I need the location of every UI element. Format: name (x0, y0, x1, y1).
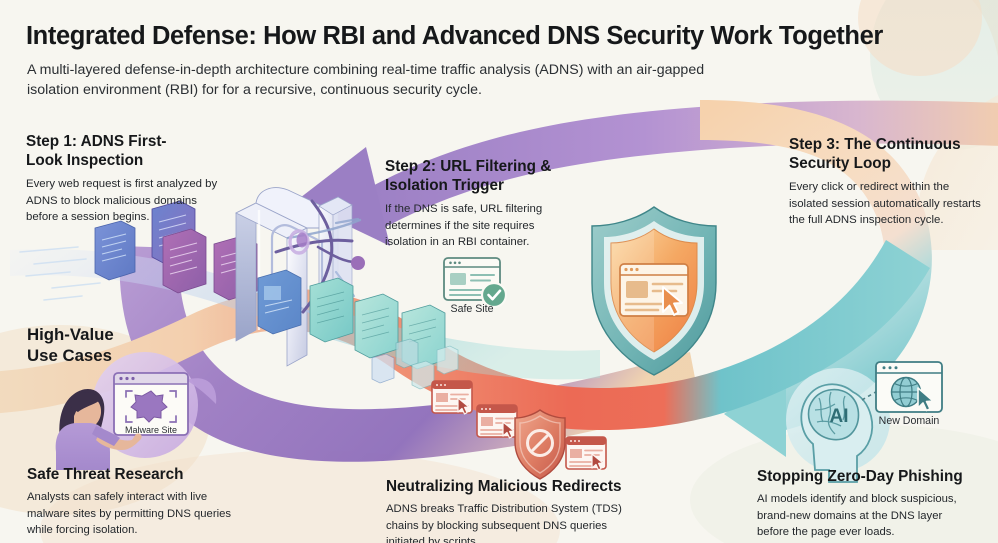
step-1-body-line-3: before a session begins. (26, 209, 256, 225)
step-1-heading-line-2: Look Inspection (26, 152, 256, 171)
use-case-3-body-line-1: AI models identify and block suspicious, (757, 491, 998, 507)
step-2-body-line-3: isolation in an RBI container. (385, 234, 625, 250)
step-3-body-line-1: Every click or redirect within the (789, 179, 998, 195)
use-case-1-body-line-1: Analysts can safely interact with live (27, 489, 297, 505)
use-case-2-body: ADNS breaks Traffic Distribution System … (386, 501, 686, 543)
use-case-1-body-line-2: malware sites by permitting DNS queries (27, 506, 297, 522)
step-1-heading-line-1: Step 1: ADNS First- (26, 133, 256, 152)
step-2-block: Step 2: URL Filtering & Isolation Trigge… (385, 158, 625, 250)
malware-site-label: Malware Site (125, 425, 177, 435)
step-3-heading-line-1: Step 3: The Continuous (789, 136, 998, 155)
step-2-body: If the DNS is safe, URL filtering determ… (385, 201, 625, 250)
subtitle-line-2: isolation environment (RBI) for for a re… (27, 80, 927, 100)
use-case-2-heading: Neutralizing Malicious Redirects (386, 478, 686, 496)
new-domain-label: New Domain (879, 415, 940, 427)
step-3-block: Step 3: The Continuous Security Loop Eve… (789, 136, 998, 228)
use-case-3-body-line-3: before the page ever loads. (757, 524, 998, 540)
page-subtitle: A multi-layered defense-in-depth archite… (27, 60, 927, 100)
use-case-2-body-line-1: ADNS breaks Traffic Distribution System … (386, 501, 686, 517)
step-1-body-line-1: Every web request is first analyzed by (26, 176, 256, 192)
step-2-body-line-2: determines if the site requires (385, 218, 625, 234)
step-2-heading-line-1: Step 2: URL Filtering & (385, 158, 625, 177)
use-case-2-body-line-3: initiated by scripts. (386, 534, 686, 543)
use-case-1-body: Analysts can safely interact with live m… (27, 489, 297, 538)
use-case-3-body-line-2: brand-new domains at the DNS layer (757, 508, 998, 524)
use-case-2-body-line-2: chains by blocking subsequent DNS querie… (386, 518, 686, 534)
use-case-neutralizing-malicious-redirects: Neutralizing Malicious Redirects ADNS br… (386, 478, 686, 543)
step-1-body-line-2: ADNS to block malicious domains (26, 193, 256, 209)
malicious-redirect-chain (432, 381, 606, 479)
safe-site-icon (444, 258, 506, 307)
step-2-body-line-1: If the DNS is safe, URL filtering (385, 201, 625, 217)
redirect-window-1 (432, 381, 472, 414)
analyst-person-icon: Malware Site (56, 352, 217, 470)
step-2-heading: Step 2: URL Filtering & Isolation Trigge… (385, 158, 625, 195)
step-2-heading-line-2: Isolation Trigger (385, 177, 625, 196)
step-3-body-line-2: isolated session automatically restarts (789, 196, 998, 212)
use-case-3-body: AI models identify and block suspicious,… (757, 491, 998, 540)
subtitle-line-1: A multi-layered defense-in-depth archite… (27, 60, 927, 80)
step-3-heading-line-2: Security Loop (789, 155, 998, 174)
redirect-window-2 (477, 405, 517, 438)
step-3-body-line-3: the full ADNS inspection cycle. (789, 212, 998, 228)
use-cases-label: High-Value Use Cases (27, 325, 114, 367)
use-case-3-heading: Stopping Zero-Day Phishing (757, 468, 998, 486)
use-case-1-body-line-3: while forcing isolation. (27, 522, 297, 538)
step-1-body: Every web request is first analyzed by A… (26, 176, 256, 225)
step-1-block: Step 1: ADNS First- Look Inspection Ever… (26, 133, 256, 225)
step-1-heading: Step 1: ADNS First- Look Inspection (26, 133, 256, 170)
use-case-safe-threat-research: Safe Threat Research Analysts can safely… (27, 466, 297, 538)
step-3-body: Every click or redirect within the isola… (789, 179, 998, 228)
use-cases-label-line-2: Use Cases (27, 346, 114, 367)
infographic-canvas: Malware Site (0, 0, 998, 543)
blocked-shield-icon (515, 410, 565, 479)
use-case-1-heading: Safe Threat Research (27, 466, 297, 484)
ai-badge-label: AI (830, 406, 849, 427)
safe-site-caption: Safe Site (432, 303, 512, 315)
new-domain-window (876, 362, 942, 412)
globe-icon (892, 378, 921, 407)
ai-phishing-illustration: AI New Domain (786, 362, 942, 482)
use-cases-label-line-1: High-Value (27, 325, 114, 346)
page-title: Integrated Defense: How RBI and Advanced… (26, 22, 883, 50)
redirect-window-3 (566, 437, 606, 470)
title-text: Integrated Defense: How RBI and Advanced… (26, 22, 883, 50)
step-3-heading: Step 3: The Continuous Security Loop (789, 136, 998, 173)
use-case-stopping-zero-day-phishing: Stopping Zero-Day Phishing AI models ide… (757, 468, 998, 540)
